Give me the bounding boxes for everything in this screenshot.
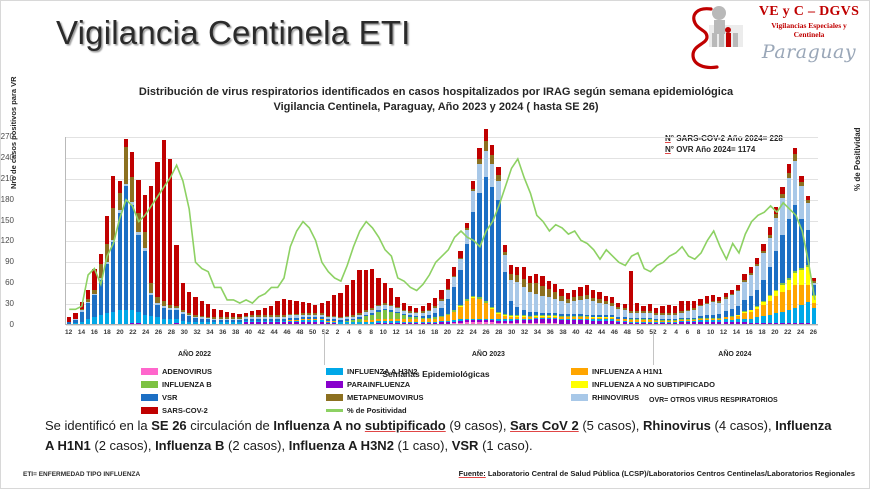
x-tick-label: 16	[418, 329, 425, 343]
bar-segment	[490, 187, 494, 307]
stacked-bar[interactable]	[136, 180, 140, 325]
legend-item[interactable]: INFLUENZA A H3N2	[326, 365, 571, 378]
bar-segment	[458, 307, 462, 320]
bar-segment	[219, 310, 223, 317]
legend-item[interactable]: ADENOVIRUS	[141, 365, 326, 378]
stacked-bar[interactable]	[667, 305, 671, 325]
bar-segment	[585, 285, 589, 295]
x-tick-label: 28	[168, 329, 175, 343]
bar-segment	[136, 213, 140, 232]
stacked-bar[interactable]	[282, 299, 286, 325]
stacked-bar[interactable]	[376, 278, 380, 325]
stacked-bar[interactable]	[705, 296, 709, 325]
bar-segment	[458, 270, 462, 305]
legend-label: SARS-COV-2	[162, 406, 208, 415]
bar-segment	[86, 290, 90, 300]
bar-segment	[698, 306, 702, 316]
x-tick-label: 18	[104, 329, 111, 343]
bar-segment	[124, 186, 128, 310]
bar-segment	[799, 219, 803, 268]
stacked-bar[interactable]	[717, 297, 721, 325]
legend-item[interactable]: INFLUENZA B	[141, 378, 326, 391]
bar-segment	[490, 164, 494, 188]
stacked-bar[interactable]	[301, 302, 305, 325]
stacked-bar[interactable]	[200, 301, 204, 325]
footer-note-eti: ETI= ENFERMEDAD TIPO INFLUENZA	[23, 471, 140, 478]
stacked-bar[interactable]	[736, 285, 740, 325]
bar-segment	[679, 301, 683, 311]
bar-segment	[673, 306, 677, 313]
chart-title-line-1: Distribución de virus respiratorios iden…	[1, 85, 870, 100]
bar-segment	[749, 312, 753, 319]
stacked-bar[interactable]	[490, 145, 494, 325]
bar-segment	[597, 303, 601, 316]
bar-segment	[793, 285, 797, 307]
bar-segment	[553, 284, 557, 292]
bar-segment	[118, 193, 122, 210]
bar-segment	[118, 181, 122, 194]
stacked-bar[interactable]	[269, 306, 273, 325]
bar-segment	[528, 292, 532, 311]
stacked-bar[interactable]	[465, 223, 469, 325]
stacked-bar[interactable]	[357, 270, 361, 325]
bar-segment	[452, 277, 456, 287]
legend-swatch-icon	[141, 381, 158, 388]
stacked-bar[interactable]	[408, 306, 412, 325]
stacked-bar[interactable]	[812, 278, 816, 325]
bar-segment	[742, 282, 746, 300]
bar-segment	[623, 310, 627, 317]
x-tick-label: 12	[720, 329, 727, 343]
stacked-bar[interactable]	[673, 306, 677, 325]
stacked-bar[interactable]	[294, 301, 298, 325]
stacked-bar[interactable]	[553, 284, 557, 325]
bar-segment	[174, 310, 178, 318]
y-tick-label: 120	[0, 236, 14, 245]
stacked-bar[interactable]	[730, 290, 734, 325]
stacked-bar[interactable]	[402, 303, 406, 325]
stacked-bar[interactable]	[742, 274, 746, 325]
legend-swatch-icon	[141, 394, 158, 401]
stacked-bar[interactable]	[458, 251, 462, 325]
stacked-bar[interactable]	[275, 301, 279, 325]
x-tick-label: 22	[784, 329, 791, 343]
bar-segment	[332, 295, 336, 316]
stacked-bar[interactable]	[641, 306, 645, 325]
bar-segment	[263, 308, 267, 315]
bar-segment	[118, 213, 122, 310]
bar-segment	[806, 285, 810, 302]
bar-segment	[181, 283, 185, 311]
bar-segment	[162, 140, 166, 302]
stacked-bar[interactable]	[724, 293, 728, 325]
bar-segment	[490, 155, 494, 163]
x-tick-label: 42	[258, 329, 265, 343]
legend-item[interactable]: INFLUENZA A NO SUBTIPIFICADO	[571, 378, 771, 391]
stacked-bar[interactable]	[547, 281, 551, 325]
bar-segment	[540, 276, 544, 286]
legend-swatch-icon	[326, 368, 343, 375]
bar-segment	[585, 299, 589, 314]
bar-segment	[99, 315, 103, 325]
stacked-bar[interactable]	[187, 292, 191, 325]
stacked-bar[interactable]	[99, 254, 103, 325]
stacked-bar[interactable]	[364, 270, 368, 325]
bar-segment	[452, 267, 456, 275]
gridline	[66, 325, 818, 326]
bar-segment	[755, 290, 759, 307]
bar-segment	[439, 308, 443, 316]
stacked-bar[interactable]	[540, 276, 544, 325]
stacked-bar[interactable]	[761, 244, 765, 325]
legend-item[interactable]: VSR	[141, 391, 326, 404]
legend-label: % de Positividad	[347, 406, 407, 415]
stacked-bar[interactable]	[320, 303, 324, 325]
stacked-bar[interactable]	[118, 181, 122, 325]
stacked-bar[interactable]	[105, 216, 109, 325]
bar-segment	[768, 301, 772, 315]
bar-segment	[717, 303, 721, 314]
x-axis-labels: 1214161820222426283032343638404244464850…	[65, 329, 817, 343]
logo-graphic	[683, 3, 755, 75]
stacked-bar[interactable]	[370, 269, 374, 325]
stacked-bar[interactable]	[484, 129, 488, 325]
x-tick-label: 26	[155, 329, 162, 343]
legend-item[interactable]: INFLUENZA A H1N1	[571, 365, 771, 378]
stacked-bar[interactable]	[427, 303, 431, 325]
x-tick-label: 46	[283, 329, 290, 343]
bar-segment	[118, 310, 122, 324]
bar-segment	[503, 255, 507, 272]
year-separator	[324, 329, 325, 365]
stacked-bar[interactable]	[206, 304, 210, 325]
stacked-bar[interactable]	[793, 148, 797, 325]
bar-segment	[181, 314, 185, 321]
stacked-bar[interactable]	[250, 311, 254, 325]
x-tick-label: 14	[405, 329, 412, 343]
y-tick-label: 270	[0, 132, 14, 141]
bar-segment	[124, 147, 128, 183]
y-tick-label: 180	[0, 195, 14, 204]
slide-root: Vigilancia Centinela ETI VE y C – DGVS V…	[0, 0, 870, 489]
bar-segment	[149, 295, 153, 316]
bar-segment	[433, 298, 437, 306]
x-tick-label: 40	[245, 329, 252, 343]
stacked-bar[interactable]	[692, 301, 696, 325]
bar-segment	[774, 251, 778, 289]
stacked-bar[interactable]	[566, 293, 570, 325]
bar-segment	[711, 302, 715, 315]
bar-segment	[787, 290, 791, 311]
stacked-bar[interactable]	[326, 301, 330, 325]
x-tick-label: 40	[572, 329, 579, 343]
stacked-bar[interactable]	[414, 308, 418, 325]
legend-label: VSR	[162, 393, 177, 402]
stacked-bar[interactable]	[787, 164, 791, 325]
stacked-bar[interactable]	[149, 186, 153, 325]
bar-segment	[168, 310, 172, 320]
stacked-bar[interactable]	[338, 293, 342, 325]
bar-segment	[294, 301, 298, 314]
bar-segment	[206, 304, 210, 317]
bar-segment	[730, 295, 734, 309]
bar-segment	[610, 306, 614, 316]
stacked-bar[interactable]	[654, 308, 658, 325]
stacked-bar[interactable]	[446, 279, 450, 325]
bar-segment	[534, 294, 538, 312]
x-tick-label: 10	[380, 329, 387, 343]
stacked-bar[interactable]	[307, 303, 311, 325]
stacked-bar[interactable]	[799, 176, 803, 325]
bar-segment	[269, 306, 273, 316]
stacked-bar[interactable]	[389, 288, 393, 325]
stacked-bar[interactable]	[124, 139, 128, 325]
bar-segment	[736, 291, 740, 306]
bar-segment	[528, 283, 532, 293]
stacked-bar[interactable]	[313, 305, 317, 325]
bar-segment	[742, 300, 746, 311]
logo: VE y C – DGVS Vigilancias Especiales y C…	[683, 3, 863, 75]
bar-segment	[509, 265, 513, 275]
footer-source: Fuente: Laboratorio Central de Salud Púb…	[459, 469, 855, 478]
x-tick-label: 48	[296, 329, 303, 343]
bar-segment	[307, 303, 311, 313]
x-tick-label: 44	[271, 329, 278, 343]
stacked-bar[interactable]	[648, 304, 652, 325]
bar-segment	[275, 301, 279, 315]
bar-segment	[799, 285, 803, 304]
bar-segment	[124, 310, 128, 324]
bar-segment	[768, 227, 772, 235]
bar-segment	[383, 310, 387, 318]
bar-segment	[515, 275, 519, 282]
legend-swatch-icon	[326, 409, 343, 412]
stacked-bar[interactable]	[256, 310, 260, 325]
stacked-bar[interactable]	[515, 267, 519, 325]
stacked-bar[interactable]	[111, 176, 115, 325]
stacked-bar[interactable]	[749, 267, 753, 325]
bar-segment	[370, 269, 374, 308]
y-tick-label: 60	[0, 278, 14, 287]
stacked-bar[interactable]	[345, 285, 349, 325]
bar-segment	[616, 309, 620, 317]
stacked-bar[interactable]	[572, 290, 576, 325]
bar-segment	[780, 187, 784, 194]
stacked-bar[interactable]	[660, 306, 664, 325]
stacked-bar[interactable]	[143, 195, 147, 325]
stacked-bar[interactable]	[130, 152, 134, 325]
stacked-bar[interactable]	[509, 265, 513, 326]
x-tick-label: 48	[624, 329, 631, 343]
bar-segment	[484, 177, 488, 301]
stacked-bar[interactable]	[421, 306, 425, 325]
stacked-bar[interactable]	[439, 290, 443, 325]
stacked-bar[interactable]	[212, 309, 216, 325]
stacked-bar[interactable]	[635, 303, 639, 325]
stacked-bar[interactable]	[623, 304, 627, 325]
bar-segment	[357, 270, 361, 313]
stacked-bar[interactable]	[578, 287, 582, 325]
bar-segment	[503, 245, 507, 252]
bar-segment	[383, 283, 387, 304]
x-tick-label: 32	[193, 329, 200, 343]
bar-segment	[465, 244, 469, 300]
x-tick-label: 38	[559, 329, 566, 343]
bar-segment	[660, 306, 664, 313]
stacked-bar[interactable]	[534, 274, 538, 325]
x-tick-label: 20	[444, 329, 451, 343]
bar-segment	[547, 289, 551, 297]
footer-source-text: Laboratorio Central de Salud Pública (LC…	[486, 469, 855, 478]
stacked-bar[interactable]	[768, 227, 772, 325]
legend-item[interactable]: METAPNEUMOVIRUS	[326, 391, 571, 404]
stacked-bar[interactable]	[780, 187, 784, 325]
bar-segment	[136, 235, 140, 312]
stacked-bar[interactable]	[604, 296, 608, 325]
bar-segment	[364, 270, 368, 310]
stacked-bar[interactable]	[383, 283, 387, 325]
bar-segment	[591, 290, 595, 298]
bar-segment	[130, 152, 134, 177]
bar-segment	[522, 279, 526, 287]
x-tick-label: 36	[547, 329, 554, 343]
summary-paragraph: Se identificó en la SE 26 circulación de…	[45, 416, 835, 456]
bar-segment	[768, 238, 772, 267]
stacked-bar[interactable]	[263, 308, 267, 325]
stacked-bar[interactable]	[679, 301, 683, 325]
bar-segment	[351, 280, 355, 315]
year-group-label: AÑO 2022	[65, 351, 324, 358]
x-tick-label: 16	[746, 329, 753, 343]
bar-segment	[471, 181, 475, 189]
bar-segment	[136, 180, 140, 213]
bar-segment	[787, 280, 791, 290]
stacked-bar[interactable]	[616, 303, 620, 325]
stacked-bar[interactable]	[193, 297, 197, 325]
x-axis-line	[66, 324, 818, 325]
x-tick-label: 34	[534, 329, 541, 343]
bar-segment	[477, 193, 481, 297]
bar-segment	[320, 303, 324, 313]
stacked-bar[interactable]	[755, 258, 759, 325]
stacked-bar[interactable]	[452, 267, 456, 325]
legend-label: METAPNEUMOVIRUS	[347, 393, 424, 402]
bar-segment	[143, 232, 147, 247]
bar-segment	[111, 176, 115, 208]
stacked-bar[interactable]	[288, 300, 292, 325]
stacked-bar[interactable]	[351, 280, 355, 325]
bar-segment	[793, 161, 797, 204]
logo-line-2: Vigilancias Especiales y Centinela	[755, 21, 863, 39]
page-title: Vigilancia Centinela ETI	[56, 14, 411, 52]
bar-segment	[389, 288, 393, 305]
bar-segment	[136, 312, 140, 323]
stacked-bar[interactable]	[774, 207, 778, 325]
stacked-bar[interactable]	[174, 245, 178, 325]
legend-swatch-icon	[326, 394, 343, 401]
stacked-bar[interactable]	[528, 276, 532, 325]
bar-segment	[389, 312, 393, 319]
year-separator	[653, 329, 654, 365]
bar-segment	[80, 312, 84, 322]
stacked-bar[interactable]	[219, 310, 223, 325]
stacked-bar[interactable]	[591, 290, 595, 325]
stacked-bar[interactable]	[610, 297, 614, 325]
x-tick-label: 16	[91, 329, 98, 343]
stacked-bar[interactable]	[698, 299, 702, 325]
stacked-bar[interactable]	[168, 159, 172, 325]
stacked-bar[interactable]	[155, 162, 159, 325]
bar-slot[interactable]	[811, 137, 817, 325]
stacked-bar[interactable]	[395, 297, 399, 325]
bar-segment	[99, 254, 103, 264]
stacked-bar[interactable]	[92, 269, 96, 325]
bar-segment	[130, 177, 134, 202]
bar-segment	[212, 309, 216, 317]
bar-segment	[149, 283, 153, 293]
stacked-bar[interactable]	[503, 245, 507, 325]
bar-segment	[749, 275, 753, 296]
bar-segment	[490, 309, 494, 319]
x-tick-label: 20	[116, 329, 123, 343]
bar-segment	[572, 301, 576, 314]
bar-segment	[761, 244, 765, 251]
bar-segment	[515, 307, 519, 315]
bar-segment	[686, 311, 690, 318]
bar-segment	[547, 281, 551, 289]
stacked-bar[interactable]	[181, 283, 185, 325]
stacked-bar[interactable]	[522, 267, 526, 325]
bar-segment	[458, 259, 462, 270]
stacked-bar[interactable]	[86, 290, 90, 325]
bar-segment	[522, 287, 526, 309]
stacked-bar[interactable]	[477, 148, 481, 325]
stacked-bar[interactable]	[686, 301, 690, 325]
stacked-bar[interactable]	[559, 289, 563, 325]
bar-segment	[749, 296, 753, 310]
stacked-bar[interactable]	[806, 196, 810, 325]
bar-segment	[755, 309, 759, 317]
stacked-bar[interactable]	[433, 298, 437, 325]
stacked-bar[interactable]	[80, 302, 84, 325]
bar-segment	[559, 301, 563, 314]
stacked-bar[interactable]	[629, 271, 633, 325]
x-tick-label: 28	[495, 329, 502, 343]
stacked-bar[interactable]	[711, 295, 715, 325]
legend-label: PARAINFLUENZA	[347, 380, 410, 389]
bar-segment	[787, 310, 791, 323]
bar-segment	[168, 159, 172, 305]
legend-item[interactable]: PARAINFLUENZA	[326, 378, 571, 391]
bar-segment	[313, 305, 317, 313]
bar-segment	[484, 303, 488, 318]
stacked-bar[interactable]	[162, 140, 166, 325]
bar-segment	[761, 305, 765, 316]
bar-segment	[458, 251, 462, 258]
x-tick-label: 30	[181, 329, 188, 343]
x-axis-year-groups: AÑO 2022AÑO 2023AÑO 2024	[65, 343, 817, 367]
stacked-bar[interactable]	[597, 292, 601, 325]
stacked-bar[interactable]	[332, 295, 336, 325]
bar-segment	[326, 301, 330, 316]
chart-title-line-2: Vigilancia Centinela, Paraguay, Año 2023…	[1, 100, 870, 115]
x-tick-label: 12	[392, 329, 399, 343]
stacked-bar[interactable]	[585, 285, 589, 325]
stacked-bar[interactable]	[471, 181, 475, 325]
stacked-bar[interactable]	[496, 167, 500, 325]
bar-segment	[301, 302, 305, 313]
bar-segment	[99, 280, 103, 315]
